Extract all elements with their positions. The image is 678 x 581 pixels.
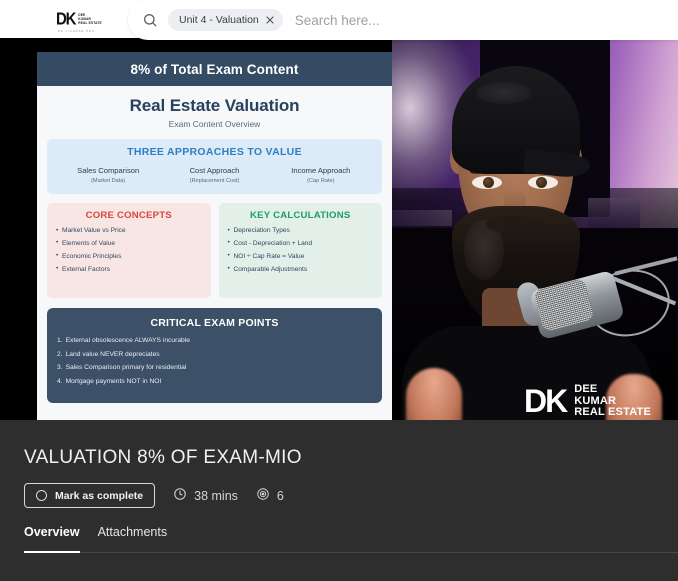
key-calculations-heading: KEY CALCULATIONS — [228, 210, 374, 221]
tab-attachments[interactable]: Attachments — [98, 525, 167, 548]
search-input[interactable] — [295, 13, 675, 28]
iris — [536, 177, 547, 188]
slide-banner-text: 8% of Total Exam Content — [131, 62, 299, 77]
list-item: Elements of Value — [56, 241, 202, 248]
list-item-text: Land value NEVER depreciates — [66, 351, 160, 358]
top-bar: DK DEE KUMAR REAL ESTATE RE LICENSE PRO … — [0, 0, 678, 38]
lesson-content: VALUATION 8% OF EXAM-MIO Mark as complet… — [0, 420, 678, 581]
concepts-calculations-row: CORE CONCEPTS Market Value vs Price Elem… — [47, 203, 382, 298]
critical-points-list: 1.External obsolescence ALWAYS incurable… — [57, 337, 372, 385]
eye-icon — [256, 487, 270, 504]
list-item: Cost - Depreciation + Land — [228, 241, 374, 248]
critical-points-card: CRITICAL EXAM POINTS 1.External obsolesc… — [47, 308, 382, 403]
list-item: 3.Sales Comparison primary for residenti… — [57, 364, 372, 371]
list-item-number: 3. — [57, 364, 63, 371]
presenter-head — [446, 66, 586, 306]
list-item-number: 1. — [57, 337, 63, 344]
key-calculations-card: KEY CALCULATIONS Depreciation Types Cost… — [219, 203, 383, 298]
duration-label: 38 mins — [194, 489, 238, 503]
eye-left — [472, 176, 502, 189]
presenter-video: DK DEE KUMAR REAL ESTATE RE LICENSE PRO — [392, 38, 678, 420]
approach-name: Income Approach — [268, 166, 374, 175]
cap-highlight — [476, 82, 532, 104]
search-bar[interactable]: Unit 4 - Valuation — [128, 0, 678, 40]
list-item: Market Value vs Price — [56, 228, 202, 235]
critical-points-heading: CRITICAL EXAM POINTS — [57, 317, 372, 329]
search-filter-chip[interactable]: Unit 4 - Valuation — [168, 9, 283, 31]
infographic-slide: 8% of Total Exam Content Real Estate Val… — [37, 52, 392, 420]
approaches-card: THREE APPROACHES TO VALUE Sales Comparis… — [47, 139, 382, 194]
list-item: Economic Principles — [56, 254, 202, 261]
list-item-number: 2. — [57, 351, 63, 358]
views-meta: 6 — [256, 487, 284, 504]
list-item-number: 4. — [57, 378, 63, 385]
approach-name: Sales Comparison — [55, 166, 161, 175]
slide-banner: 8% of Total Exam Content — [37, 52, 392, 86]
approach-item: Income Approach (Cap Rate) — [268, 166, 374, 184]
list-item: NOI ÷ Cap Rate = Value — [228, 254, 374, 261]
approaches-heading: THREE APPROACHES TO VALUE — [55, 146, 374, 158]
list-item: External Factors — [56, 267, 202, 274]
watermark-line-1: DEE — [574, 384, 651, 396]
approach-item: Cost Approach (Replacement Cost) — [161, 166, 267, 184]
views-count: 6 — [277, 489, 284, 503]
mark-as-complete-button[interactable]: Mark as complete — [24, 483, 155, 508]
hand-left — [406, 368, 462, 420]
page-title: VALUATION 8% OF EXAM-MIO — [24, 447, 302, 469]
mustache — [486, 216, 544, 232]
clock-icon — [173, 487, 187, 504]
list-item-text: Sales Comparison primary for residential — [66, 364, 187, 371]
tab-overview[interactable]: Overview — [24, 525, 80, 548]
list-item: Comparable Adjustments — [228, 267, 374, 274]
approach-note: (Cap Rate) — [268, 178, 374, 184]
list-item-text: External obsolescence ALWAYS incurable — [66, 337, 190, 344]
approach-item: Sales Comparison (Market Data) — [55, 166, 161, 184]
key-calculations-list: Depreciation Types Cost - Depreciation +… — [228, 228, 374, 274]
eye-right — [528, 176, 558, 189]
search-icon — [142, 12, 158, 28]
brand-line-3: REAL ESTATE — [78, 21, 102, 25]
list-item-text: Mortgage payments NOT in NOI — [66, 378, 162, 385]
slide-subtitle: Exam Content Overview — [37, 119, 392, 129]
mark-as-complete-label: Mark as complete — [55, 490, 143, 502]
lesson-tabs: Overview Attachments — [24, 525, 167, 548]
slide-title: Real Estate Valuation — [37, 96, 392, 116]
active-tab-indicator — [24, 551, 80, 553]
approach-name: Cost Approach — [161, 166, 267, 175]
list-item: 1.External obsolescence ALWAYS incurable — [57, 337, 372, 344]
list-item: Depreciation Types — [228, 228, 374, 235]
approaches-row: Sales Comparison (Market Data) Cost Appr… — [55, 166, 374, 184]
brand-wordmark: DEE KUMAR REAL ESTATE — [78, 13, 102, 25]
iris — [483, 177, 494, 188]
core-concepts-card: CORE CONCEPTS Market Value vs Price Elem… — [47, 203, 211, 298]
approach-note: (Market Data) — [55, 178, 161, 184]
brand-logo[interactable]: DK DEE KUMAR REAL ESTATE — [56, 7, 118, 31]
duration-meta: 38 mins — [173, 487, 238, 504]
core-concepts-list: Market Value vs Price Elements of Value … — [56, 228, 202, 274]
search-filter-chip-label: Unit 4 - Valuation — [179, 14, 259, 26]
watermark-wordmark: DEE KUMAR REAL ESTATE — [574, 384, 651, 419]
list-item: 2.Land value NEVER depreciates — [57, 351, 372, 358]
list-item: 4.Mortgage payments NOT in NOI — [57, 378, 372, 385]
circle-icon — [36, 490, 47, 501]
approach-note: (Replacement Cost) — [161, 178, 267, 184]
close-icon[interactable] — [265, 15, 276, 26]
watermark-line-3: REAL ESTATE — [574, 407, 651, 419]
video-watermark: DK DEE KUMAR REAL ESTATE — [524, 384, 651, 419]
video-player[interactable]: 8% of Total Exam Content Real Estate Val… — [0, 38, 678, 420]
watermark-mark: DK — [524, 387, 566, 416]
brand-mark: DK — [56, 10, 75, 27]
brand-tagline: RE LICENSE PRO — [58, 30, 95, 33]
core-concepts-heading: CORE CONCEPTS — [56, 210, 202, 221]
lesson-meta-row: Mark as complete 38 mins 6 — [24, 483, 284, 508]
tabs-divider — [24, 552, 678, 553]
